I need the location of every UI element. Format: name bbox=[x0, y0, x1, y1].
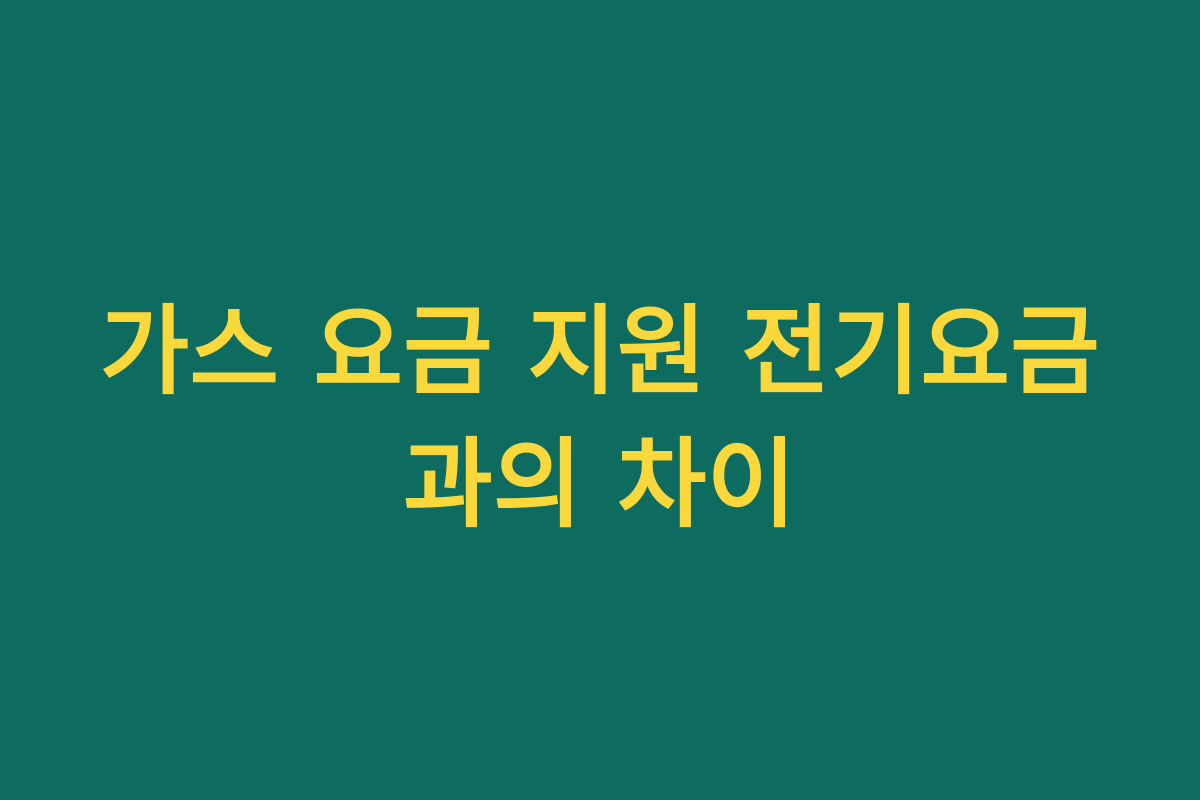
headline-block: 가스 요금 지원 전기요금 과의 차이 bbox=[50, 285, 1150, 551]
poster-canvas: 가스 요금 지원 전기요금 과의 차이 bbox=[0, 0, 1200, 800]
headline-line-2: 과의 차이 bbox=[50, 418, 1150, 551]
headline-line-1: 가스 요금 지원 전기요금 bbox=[50, 285, 1150, 418]
